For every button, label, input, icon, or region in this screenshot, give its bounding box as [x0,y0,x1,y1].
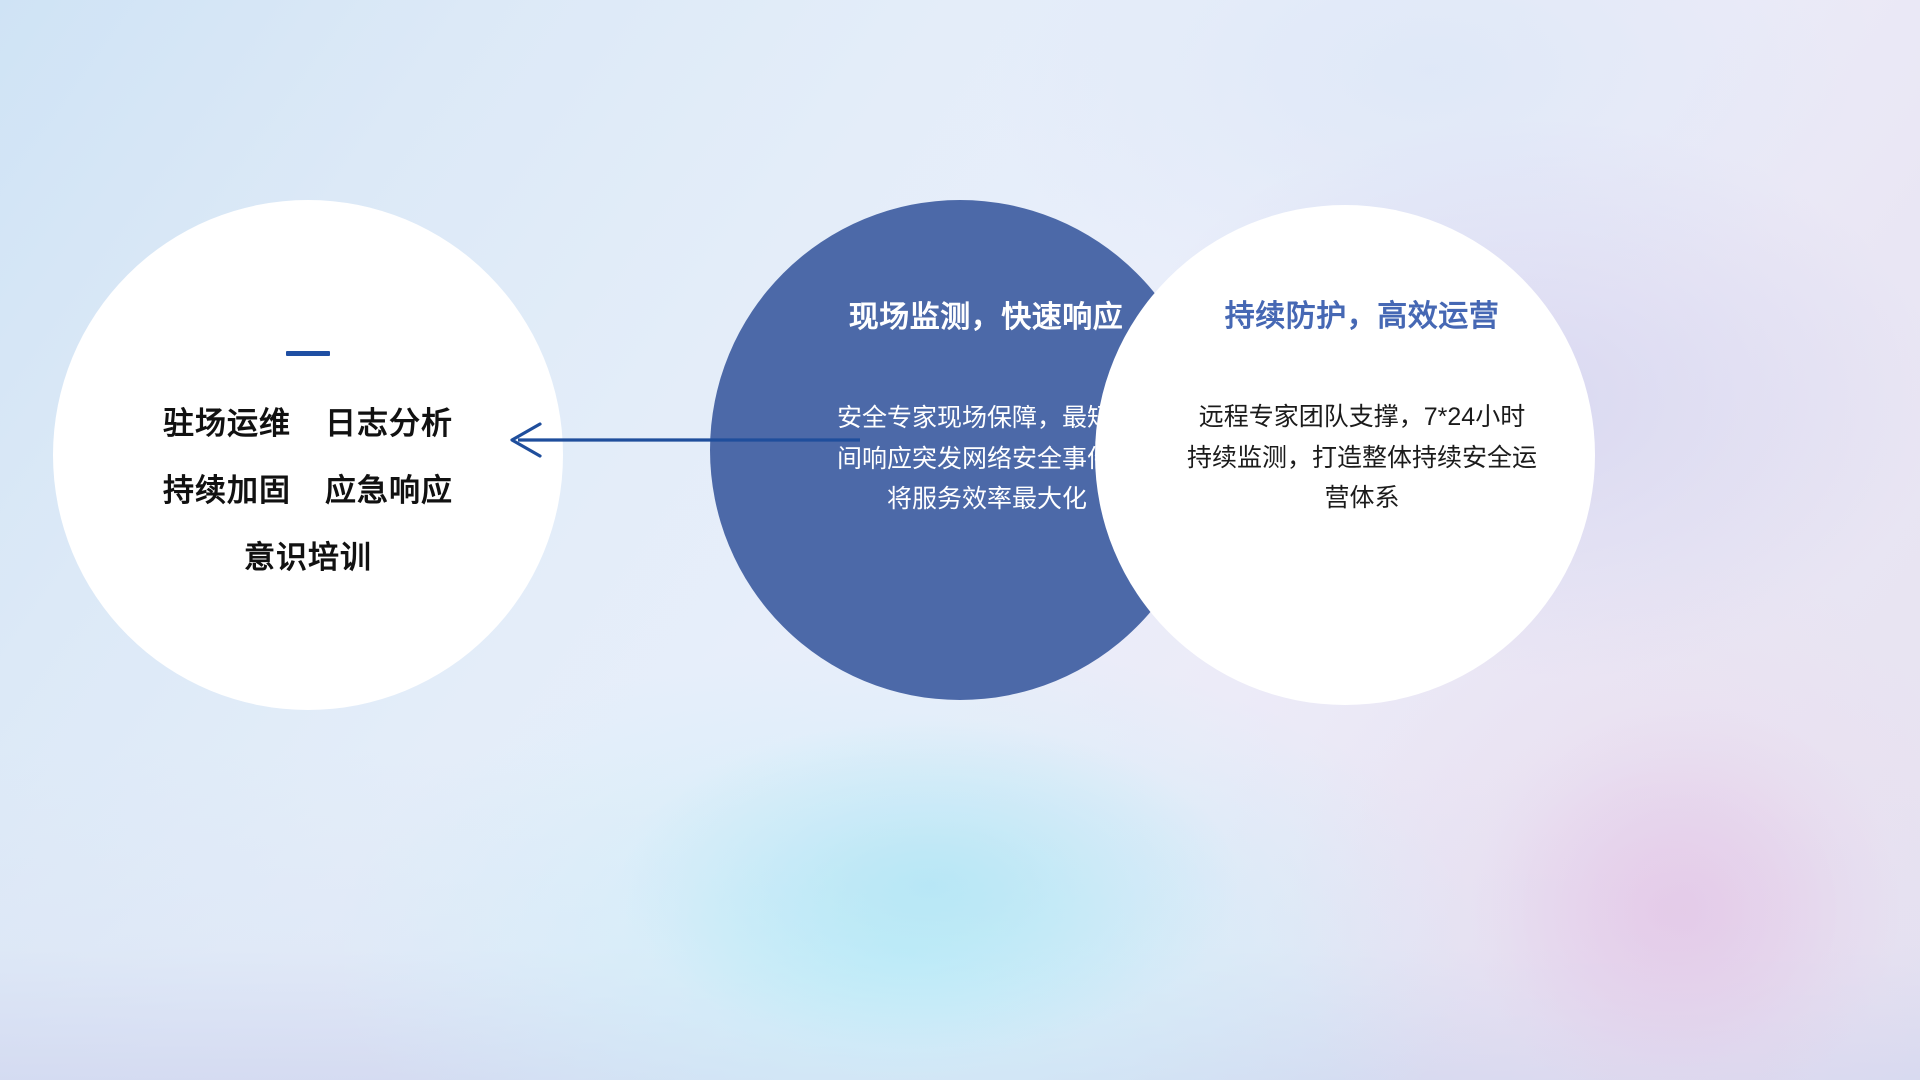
right-circle-content: 持续防护，高效运营 远程专家团队支撑，7*24小时持续监测，打造整体持续安全运营… [1095,205,1595,705]
capability-label-yingjixiangying: 应急响应 [325,473,453,508]
right-circle-title: 持续防护，高效运营 [1225,291,1500,335]
background-glow-pink-core [1470,700,1900,1080]
right-circle-body: 远程专家团队支撑，7*24小时持续监测，打造整体持续安全运营体系 [1187,397,1537,519]
left-capability-circle[interactable]: 驻场运维日志分析 持续加固应急响应 意识培训 [53,200,563,710]
capability-line-2: 持续加固应急响应 [163,475,453,506]
flow-arrow-icon [500,418,870,462]
background-glow-bottom [0,750,1920,1080]
capability-label-yishipeixun: 意识培训 [244,540,372,575]
middle-circle-title: 现场监测，快速响应 [849,292,1124,336]
capability-line-3: 意识培训 [244,542,372,573]
capability-label-zhuchangyunwei: 驻场运维 [163,406,291,441]
slide-canvas: 驻场运维日志分析 持续加固应急响应 意识培训 现场监测，快速响应 安全专家现场保… [0,0,1920,1080]
divider-dash-icon [286,351,330,356]
left-circle-content: 驻场运维日志分析 持续加固应急响应 意识培训 [53,200,563,710]
right-operations-circle[interactable]: 持续防护，高效运营 远程专家团队支撑，7*24小时持续监测，打造整体持续安全运营… [1095,205,1595,705]
capability-label-chixujiagu: 持续加固 [163,473,291,508]
background-glow-cyan-core [620,720,1240,1050]
capability-line-1: 驻场运维日志分析 [163,408,453,439]
middle-circle-body: 安全专家现场保障，最短时间响应突发网络安全事件，将服务效率最大化 [837,398,1137,520]
capability-label-rizhifenxi: 日志分析 [325,406,453,441]
